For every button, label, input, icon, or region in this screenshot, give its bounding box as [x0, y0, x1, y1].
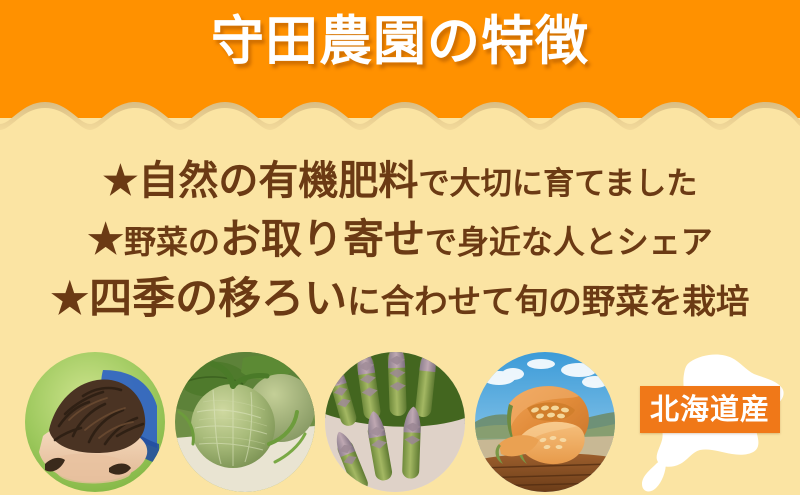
status-badge: 北海道産: [640, 386, 780, 433]
green-melon-on-vine-photo: [175, 352, 315, 492]
feature-line-1: ★自然の有機肥料で大切に育てました: [0, 158, 800, 207]
cut-orange-melon-photo: [475, 352, 615, 492]
feature-line-3: ★四季の移ろいに合わせて旬の野菜を栽培: [0, 274, 800, 327]
star-icon: ★: [103, 158, 139, 204]
badge-label: 北海道産: [640, 386, 780, 433]
promo-banner: 守田農園の特徴 ★自然の有機肥料で大切に育てました ★野菜のお取り寄せで身近な人…: [0, 0, 800, 495]
wave-divider: [0, 98, 800, 150]
feature-1-rest: で大切に育てました: [418, 166, 697, 202]
compost-in-hands-photo: [25, 352, 165, 492]
star-icon: ★: [87, 216, 124, 262]
feature-3-emphasis: 四季の移ろい: [89, 274, 347, 324]
feature-list: ★自然の有機肥料で大切に育てました ★野菜のお取り寄せで身近な人とシェア ★四季…: [0, 148, 800, 348]
page-title: 守田農園の特徴: [0, 14, 800, 70]
feature-1-emphasis: 自然の有機肥料: [138, 157, 418, 204]
feature-2-lead: 野菜の: [124, 223, 220, 261]
feature-2-emphasis: お取り寄せ: [220, 215, 425, 263]
star-icon: ★: [51, 274, 90, 324]
feature-line-2: ★野菜のお取り寄せで身近な人とシェア: [0, 216, 800, 265]
feature-3-rest: に合わせて旬の野菜を栽培: [347, 282, 749, 321]
asparagus-photo: [325, 352, 465, 492]
feature-2-rest: で身近な人とシェア: [425, 223, 713, 261]
